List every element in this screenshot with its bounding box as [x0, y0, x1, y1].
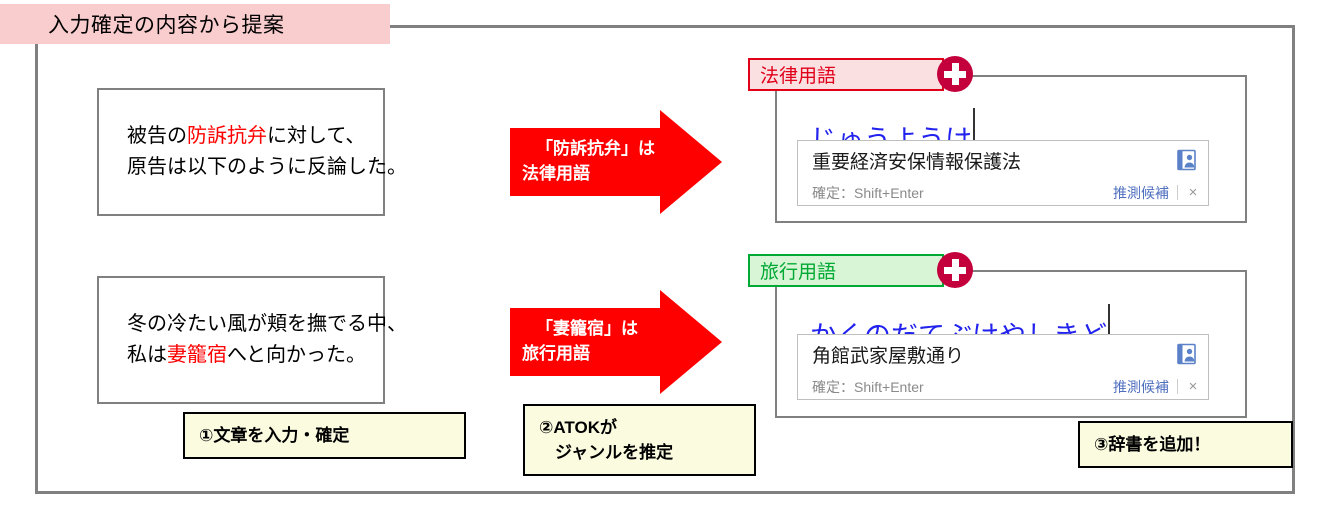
plus-bar-vertical: [952, 63, 959, 85]
sentence-text: 被告の防訴抗弁に対して、 原告は以下のように反論した。: [127, 121, 407, 183]
guess-candidate-label[interactable]: 推測候補: [1113, 377, 1169, 397]
add-dictionary-plus-icon[interactable]: [937, 252, 973, 288]
candidate-text: 重要経済安保情報保護法: [812, 147, 1176, 174]
candidate-row[interactable]: 重要経済安保情報保護法: [798, 141, 1208, 179]
confirm-hint: 確定：Shift+Enter: [812, 183, 1113, 203]
callout-step-2: ②ATOKが ジャンルを推定: [523, 404, 756, 476]
sentence-highlight-term: 妻籠宿: [167, 344, 227, 366]
sentence-pre: 被告の: [127, 125, 187, 147]
callout-step-3: ③辞書を追加！: [1078, 421, 1293, 468]
genre-tag-label: 旅行用語: [760, 257, 836, 284]
candidate-row[interactable]: 角館武家屋敷通り: [798, 335, 1208, 373]
close-icon[interactable]: ×: [1186, 379, 1200, 394]
sentence-post: に対して、: [267, 125, 365, 147]
title-banner: 入力確定の内容から提案: [0, 4, 390, 44]
page-title: 入力確定の内容から提案: [48, 9, 285, 39]
plus-bar-vertical: [952, 259, 959, 281]
add-dictionary-plus-icon[interactable]: [937, 56, 973, 92]
footer-divider: [1177, 379, 1178, 394]
confirm-hint: 確定：Shift+Enter: [812, 377, 1113, 397]
slide-canvas: 入力確定の内容から提案 被告の防訴抗弁に対して、 原告は以下のように反論した。 …: [0, 0, 1317, 510]
callout-line2: ジャンルを推定: [539, 440, 754, 466]
arrow-travel: 「妻籠宿」は 旅行用語: [510, 290, 722, 394]
sentence-highlight-term: 防訴抗弁: [187, 125, 267, 147]
candidate-footer: 確定：Shift+Enter 推測候補 ×: [798, 179, 1208, 206]
genre-tag-travel[interactable]: 旅行用語: [748, 254, 944, 287]
callout-step-1: ①文章を入力・確定: [183, 412, 466, 459]
candidate-popup-legal[interactable]: 重要経済安保情報保護法 確定：Shift+Enter 推測候補 ×: [797, 140, 1209, 206]
sentence-line2-post: へと向かった。: [227, 344, 366, 366]
callout-line1: ②ATOKが: [539, 415, 754, 441]
arrow-legal: 「防訴抗弁」は 法律用語: [510, 110, 722, 214]
candidate-text: 角館武家屋敷通り: [812, 341, 1176, 368]
candidate-footer: 確定：Shift+Enter 推測候補 ×: [798, 373, 1208, 400]
close-icon[interactable]: ×: [1186, 185, 1200, 200]
candidate-popup-travel[interactable]: 角館武家屋敷通り 確定：Shift+Enter 推測候補 ×: [797, 334, 1209, 400]
genre-tag-legal[interactable]: 法律用語: [748, 58, 944, 91]
callout-line1: ③辞書を追加！: [1094, 432, 1291, 458]
callout-line1: ①文章を入力・確定: [199, 423, 464, 449]
sentence-line2-pre: 私は: [127, 344, 167, 366]
sentence-box-legal: 被告の防訴抗弁に対して、 原告は以下のように反論した。: [97, 88, 385, 216]
guess-candidate-label[interactable]: 推測候補: [1113, 183, 1169, 203]
genre-tag-label: 法律用語: [760, 61, 836, 88]
arrow-shape-icon: [510, 290, 722, 394]
sentence-box-travel: 冬の冷たい風が頬を撫でる中、 私は妻籠宿へと向かった。: [97, 276, 385, 404]
dictionary-book-icon: [1176, 149, 1198, 171]
sentence-pre: 冬の冷たい風が頬を撫でる中、: [127, 313, 407, 335]
sentence-text: 冬の冷たい風が頬を撫でる中、 私は妻籠宿へと向かった。: [127, 309, 407, 371]
dictionary-book-icon: [1176, 343, 1198, 365]
arrow-shape-icon: [510, 110, 722, 214]
sentence-line2: 原告は以下のように反論した。: [127, 156, 407, 178]
footer-divider: [1177, 185, 1178, 200]
